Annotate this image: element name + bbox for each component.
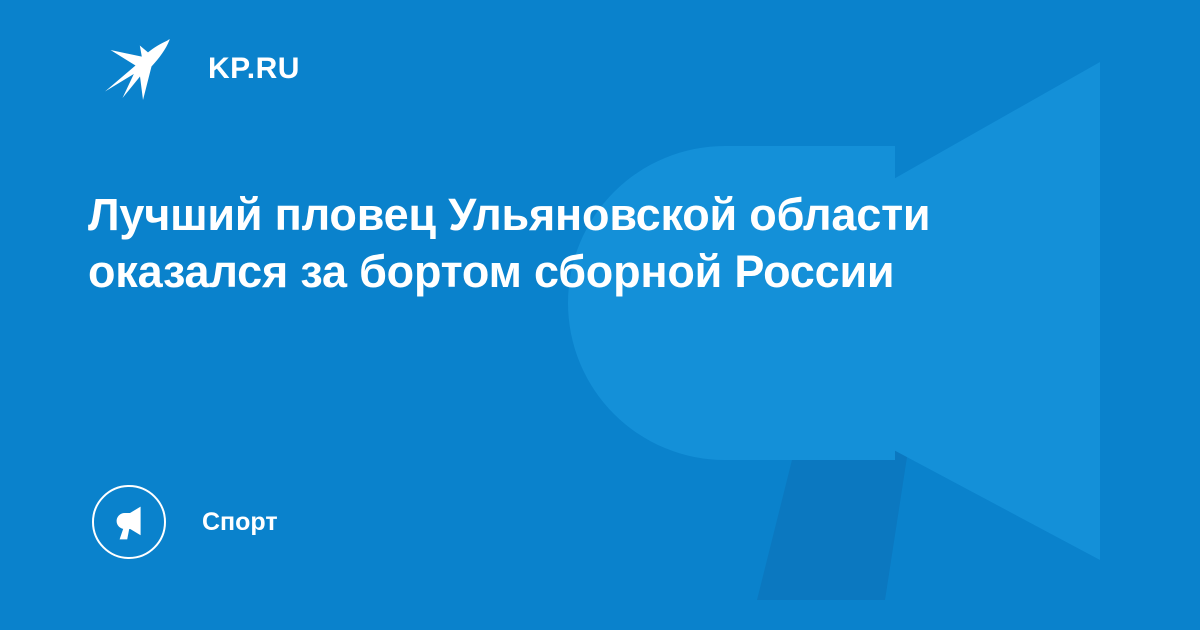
category-label: Спорт [202, 510, 278, 535]
brand-wordmark: KP.RU [208, 54, 300, 84]
social-share-card: KP.RU Лучший пловец Ульяновской области … [0, 0, 1200, 630]
megaphone-icon [109, 502, 149, 542]
swallow-bird-icon [104, 36, 178, 102]
category-badge-group[interactable]: Спорт [92, 484, 278, 560]
headline-title: Лучший пловец Ульяновской области оказал… [88, 186, 968, 300]
category-icon-badge [92, 485, 166, 559]
brand-header: KP.RU [104, 36, 300, 102]
